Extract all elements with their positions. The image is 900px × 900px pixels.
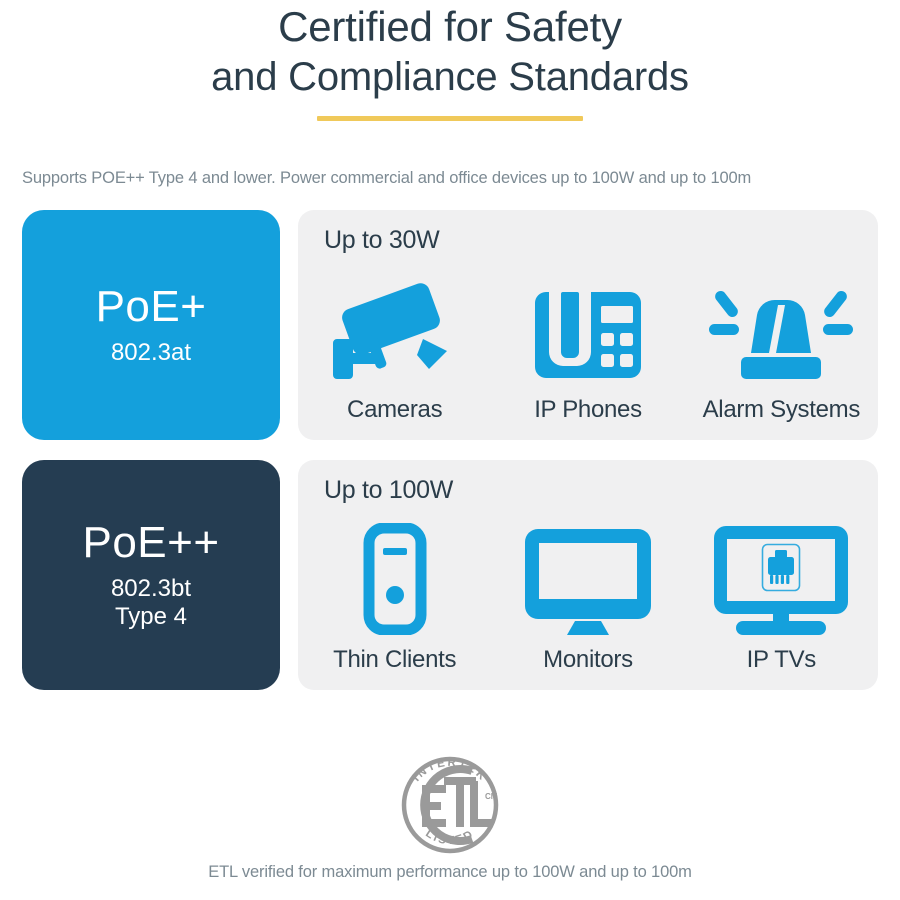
desk-phone-icon bbox=[491, 266, 684, 392]
page-title-line-1: Certified for Safety bbox=[0, 2, 900, 52]
device-item-label: Alarm Systems bbox=[703, 396, 860, 424]
poe-rows: PoE+ 802.3at Up to 30W bbox=[0, 210, 900, 690]
device-panel-30w: Up to 30W bbox=[298, 210, 878, 440]
page-title-line-2: and Compliance Standards bbox=[0, 52, 900, 102]
poe-badge-title: PoE+ bbox=[96, 283, 207, 331]
panel-wattage-label: Up to 100W bbox=[324, 476, 453, 505]
panel-wattage-label: Up to 30W bbox=[324, 226, 439, 255]
poe-badge-standard: 802.3at bbox=[111, 339, 191, 367]
device-item-thin-clients: Thin Clients bbox=[298, 516, 491, 680]
device-item-monitors: Monitors bbox=[491, 516, 684, 680]
poe-badge-standard: 802.3bt bbox=[111, 575, 191, 603]
etl-verification-note: ETL verified for maximum performance up … bbox=[0, 859, 900, 900]
alarm-siren-icon bbox=[685, 266, 878, 392]
subtitle-text: Supports POE++ Type 4 and lower. Power c… bbox=[0, 169, 900, 188]
etl-arc-bottom-text: LISTED bbox=[423, 828, 477, 848]
device-item-ip-tvs: IP TVs bbox=[685, 516, 878, 680]
security-camera-icon bbox=[298, 266, 491, 392]
etl-intertek-listed-logo: INTERTEK LISTED CM bbox=[386, 747, 514, 859]
page-footer: INTERTEK LISTED CM ETL verified for maxi… bbox=[0, 747, 900, 900]
device-panel-100w: Up to 100W Thin Clients bbox=[298, 460, 878, 690]
etl-superscript-cm: CM bbox=[485, 792, 498, 801]
poe-row-2: PoE++ 802.3bt Type 4 Up to 100W Thin Cli… bbox=[22, 460, 878, 690]
device-item-ip-phones: IP Phones bbox=[491, 266, 684, 430]
poe-badge-title: PoE++ bbox=[82, 519, 219, 567]
monitor-icon bbox=[491, 516, 684, 642]
device-item-label: Monitors bbox=[543, 646, 633, 674]
device-item-label: Thin Clients bbox=[333, 646, 456, 674]
poe-badge-type: Type 4 bbox=[115, 603, 187, 631]
device-item-list: Cameras bbox=[298, 266, 878, 430]
device-item-alarm-systems: Alarm Systems bbox=[685, 266, 878, 430]
device-item-label: IP TVs bbox=[747, 646, 816, 674]
svg-text:LISTED: LISTED bbox=[423, 828, 477, 848]
poe-row-1: PoE+ 802.3at Up to 30W bbox=[22, 210, 878, 440]
device-item-list: Thin Clients Monitors bbox=[298, 516, 878, 680]
poe-badge-poe-plus: PoE+ 802.3at bbox=[22, 210, 280, 440]
title-accent-rule-wrap bbox=[0, 116, 900, 121]
device-item-label: IP Phones bbox=[534, 396, 642, 424]
etl-logo-wrap: INTERTEK LISTED CM bbox=[0, 747, 900, 859]
device-item-label: Cameras bbox=[347, 396, 442, 424]
poe-badge-poe-plusplus: PoE++ 802.3bt Type 4 bbox=[22, 460, 280, 690]
ip-tv-rj45-icon bbox=[685, 516, 878, 642]
thin-client-tower-icon bbox=[298, 516, 491, 642]
device-item-cameras: Cameras bbox=[298, 266, 491, 430]
page-header: Certified for Safety and Compliance Stan… bbox=[0, 0, 900, 121]
title-accent-rule bbox=[317, 116, 583, 121]
